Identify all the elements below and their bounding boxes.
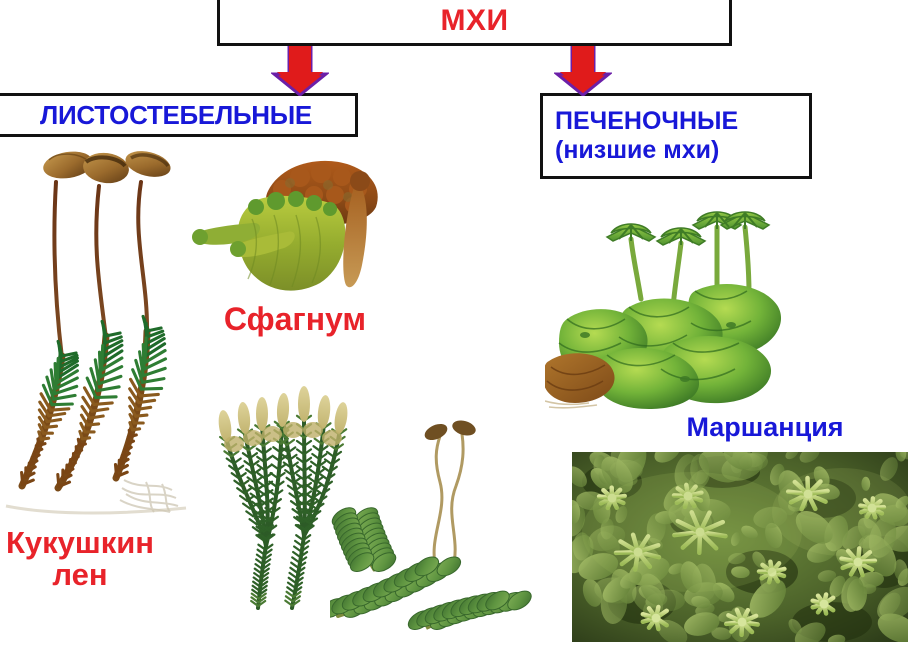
category-box-leafy: ЛИСТОСТЕБЕЛЬНЫЕ bbox=[0, 93, 358, 137]
caption-kukushkin-line1: Кукушкин bbox=[0, 527, 160, 559]
arrow-to-leafy-icon bbox=[271, 46, 329, 96]
marchantia-illustration bbox=[545, 195, 810, 410]
caption-sphagnum: Сфагнум bbox=[205, 303, 385, 336]
category-label-leafy: ЛИСТОСТЕБЕЛЬНЫЕ bbox=[40, 100, 312, 131]
category-sublabel-liverworts: (низшие мхи) bbox=[555, 136, 719, 166]
arrow-to-liverworts-icon bbox=[554, 46, 612, 96]
sphagnum-moss-illustration bbox=[190, 145, 395, 305]
marchantia-colony-photograph bbox=[572, 452, 908, 642]
title-label: МХИ bbox=[440, 0, 508, 36]
polytrichum-moss-illustration bbox=[0, 138, 196, 523]
category-label-liverworts: ПЕЧЕНОЧНЫЕ bbox=[555, 107, 738, 137]
slide-canvas: МХИ ЛИСТОСТЕБЕЛЬНЫЕ ПЕЧЕНОЧНЫЕ (низшие м… bbox=[0, 0, 910, 642]
caption-kukushkin-line2: лен bbox=[0, 559, 160, 591]
caption-marshantsia: Маршанция bbox=[660, 414, 870, 442]
category-box-liverworts: ПЕЧЕНОЧНЫЕ (низшие мхи) bbox=[540, 93, 812, 179]
title-box: МХИ bbox=[217, 0, 732, 46]
creeping-moss-illustration bbox=[330, 420, 535, 642]
caption-kukushkin-len: Кукушкин лен bbox=[0, 527, 160, 590]
